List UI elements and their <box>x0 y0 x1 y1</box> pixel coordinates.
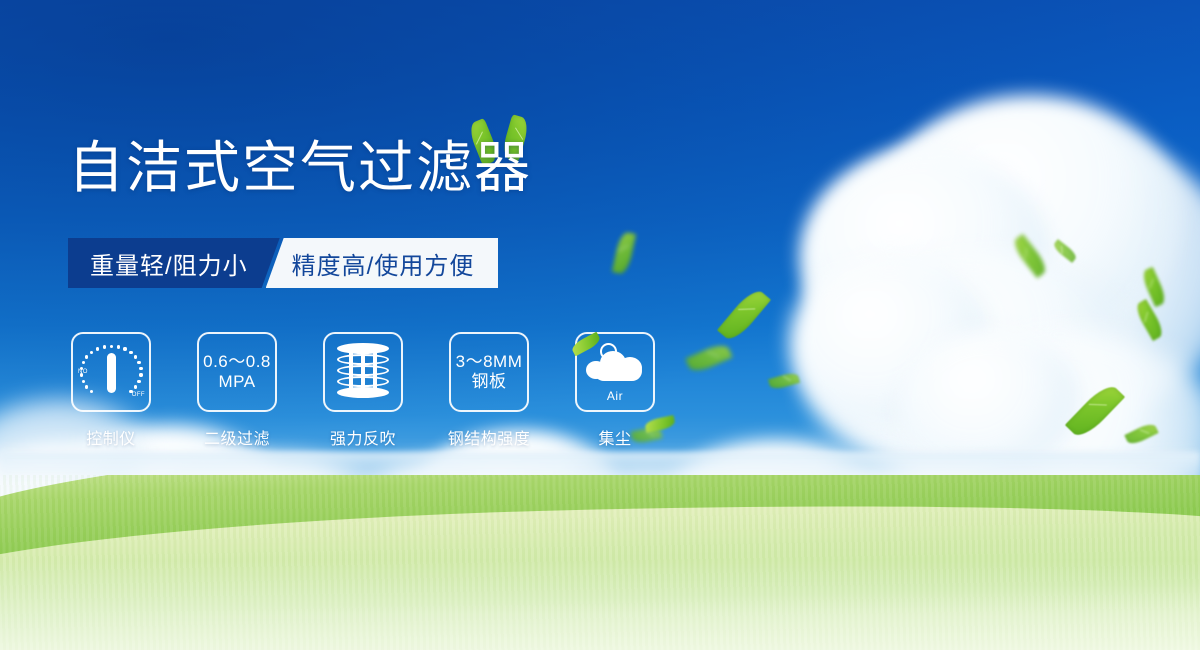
page-title: 自洁式空气过滤器 <box>68 140 532 196</box>
feature-caption: 集尘 <box>598 425 631 449</box>
feature-item-controller: NO OFF 控制仪 <box>68 332 154 449</box>
product-banner: 自洁式空气过滤器 重量轻/阻力小 精度高/使用方便 <box>0 0 1200 650</box>
cloud-air-icon <box>584 341 646 387</box>
feature-text-sub: 钢板 <box>456 372 523 392</box>
coil-filter-icon <box>337 343 389 401</box>
feature-item-steel-strength: 3～8MM 钢板 钢结构强度 <box>446 332 532 449</box>
pressure-text-icon: 0.6～0.8 MPA <box>203 352 271 391</box>
feature-item-dust-collection: Air 集尘 <box>572 332 658 449</box>
feature-icon-box: 0.6～0.8 MPA <box>197 332 277 412</box>
grass-field <box>0 475 1200 650</box>
feature-list: NO OFF 控制仪 0.6～0.8 MPA 二级过滤 <box>68 332 658 449</box>
feature-icon-box <box>323 332 403 412</box>
feature-text-main: 0.6～0.8 <box>203 352 271 371</box>
feature-caption: 二级过滤 <box>204 425 270 449</box>
gauge-label-off: OFF <box>132 392 145 398</box>
feature-text-sub: MPA <box>203 372 271 392</box>
feature-icon-box: 3～8MM 钢板 <box>449 332 529 412</box>
gauge-icon: NO OFF <box>79 342 143 402</box>
gauge-label-no: NO <box>78 369 88 375</box>
ground-light-glow <box>0 560 1200 650</box>
feature-icon-box: NO OFF <box>71 332 151 412</box>
feature-caption: 强力反吹 <box>330 425 396 449</box>
subtitle-primary: 重量轻/阻力小 <box>68 238 280 288</box>
feature-item-two-stage-filter: 0.6～0.8 MPA 二级过滤 <box>194 332 280 449</box>
subtitle-bar: 重量轻/阻力小 精度高/使用方便 <box>68 238 498 288</box>
feature-caption: 控制仪 <box>86 425 136 449</box>
feature-icon-box: Air <box>575 332 655 412</box>
feature-item-pulse-blowback: 强力反吹 <box>320 332 406 449</box>
air-label: Air <box>607 389 623 403</box>
subtitle-secondary: 精度高/使用方便 <box>266 238 499 288</box>
feature-text-main: 3～8MM <box>456 352 523 371</box>
gauge-needle <box>107 353 116 393</box>
feature-caption: 钢结构强度 <box>448 425 531 449</box>
steel-plate-text-icon: 3～8MM 钢板 <box>456 352 523 391</box>
